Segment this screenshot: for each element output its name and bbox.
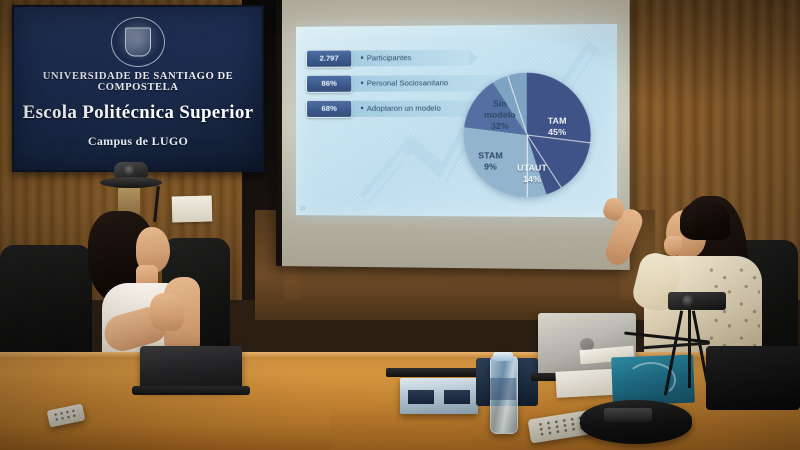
speakerphone-keypad [604, 408, 652, 422]
stat-label: ▪Participantes [360, 53, 411, 62]
bullet-icon: ▪ [360, 103, 363, 113]
tablet-stand-base [132, 386, 250, 395]
stat-row: 68% ▪Adoptaron un modelo [306, 100, 441, 117]
conference-room-scene: UNIVERSIDADE DE SANTIAGO DE COMPOSTELA E… [0, 0, 800, 450]
pie-chart: TAM TAM 45% 45% Sin modelo 32% UTAUT 14%… [464, 72, 591, 197]
stat-value-badge: 68% [306, 99, 352, 117]
sign-campus-name: Campus de LUGO [14, 134, 262, 149]
camera-lens-icon [682, 295, 695, 307]
tripod-leg [688, 310, 691, 388]
sign-university-name: UNIVERSIDADE DE SANTIAGO DE COMPOSTELA [20, 71, 256, 93]
camera-tripod [668, 292, 726, 310]
water-bottle-label [490, 378, 516, 400]
pie-separator [527, 135, 528, 197]
stat-label-text: Participantes [367, 53, 412, 62]
stat-label-text: Personal Sociosanitario [367, 78, 448, 87]
stat-label: ▪Adoptaron un modelo [360, 104, 440, 113]
bullet-icon: ▪ [360, 52, 363, 62]
stat-row: 86% ▪Personal Sociosanitario [306, 74, 448, 92]
chin [664, 236, 682, 256]
sign-school-name: Escola Politécnica Superior [18, 102, 258, 124]
water-bottle-cap [493, 352, 513, 361]
av-equipment-box [706, 346, 800, 410]
stat-label-text: Adoptaron un modelo [367, 104, 441, 113]
projection-screen: 2.797 ▪Participantes 86% ▪Personal Socio… [276, 0, 630, 270]
university-sign: UNIVERSIDADE DE SANTIAGO DE COMPOSTELA E… [12, 5, 264, 172]
cable-tray [386, 368, 478, 377]
pie-label-stam: STAM 9% [472, 150, 509, 172]
stat-label: ▪Personal Sociosanitario [360, 78, 448, 87]
slide-number: 29 [300, 206, 306, 212]
tablet-on-stand[interactable] [140, 346, 242, 390]
hair-front [680, 200, 730, 240]
stat-row: 2.797 ▪Participantes [306, 49, 411, 67]
usc-crest-icon [111, 17, 165, 67]
stat-value-badge: 2.797 [306, 49, 352, 67]
stat-value-badge: 86% [306, 74, 352, 92]
conference-speakerphone[interactable] [580, 400, 692, 444]
hands [150, 293, 184, 331]
pie-label-tam: TAM TAM 45% 45% [534, 116, 580, 139]
usc-box-label-left [408, 390, 434, 404]
usc-box-label-right [444, 390, 470, 404]
projected-slide: 2.797 ▪Participantes 86% ▪Personal Socio… [296, 24, 617, 217]
bullet-icon: ▪ [360, 78, 363, 88]
polycom-conference-camera [100, 162, 162, 190]
